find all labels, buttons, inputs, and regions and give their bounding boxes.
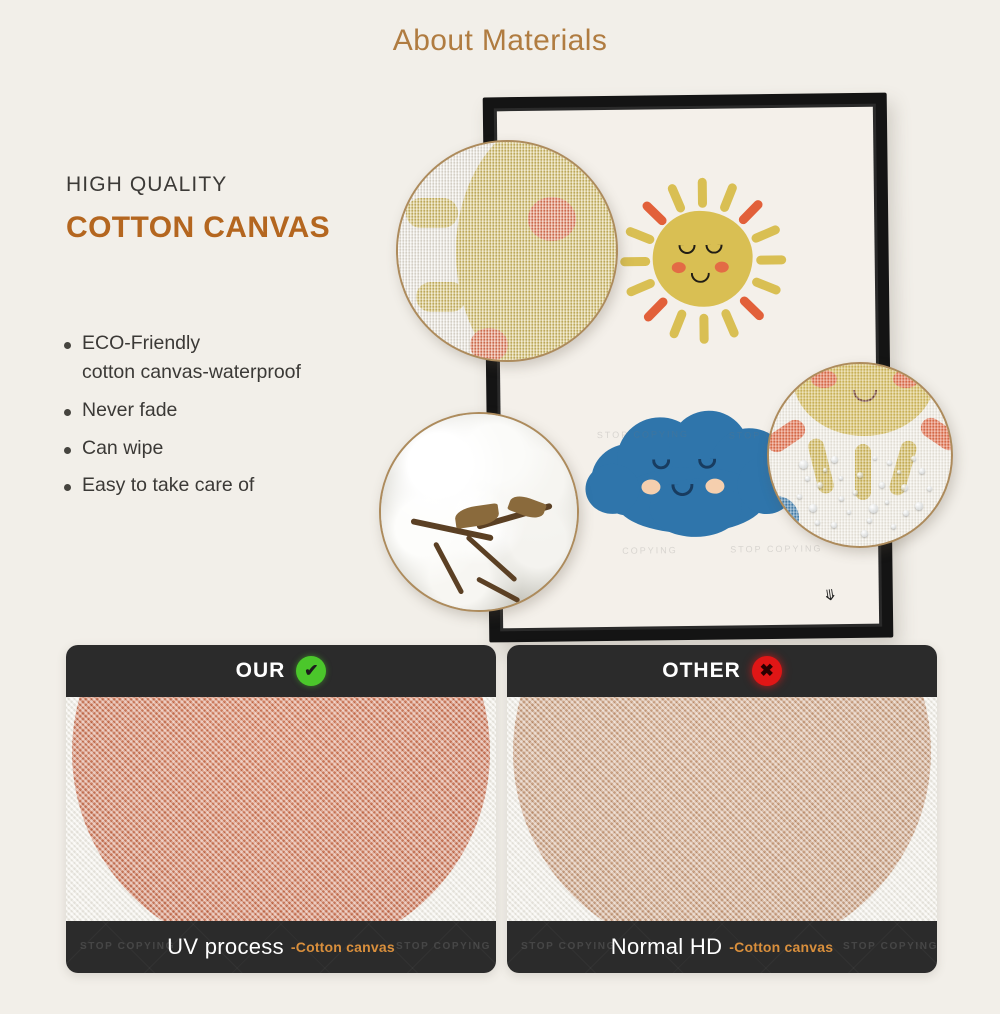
swatch-weave-texture bbox=[72, 697, 490, 921]
water-droplet bbox=[901, 484, 908, 491]
water-droplet bbox=[915, 502, 923, 510]
panel-header-our: OUR ✔ bbox=[66, 645, 496, 697]
water-droplet bbox=[815, 520, 820, 525]
list-item: ECO-Friendly cotton canvas-waterproof bbox=[62, 333, 412, 383]
weave-orange-dot bbox=[470, 328, 508, 362]
water-droplet bbox=[831, 456, 838, 463]
panel-footer-our: STOP COPYING STOP COPYING UV process -Co… bbox=[66, 921, 496, 973]
water-droplet bbox=[817, 482, 823, 488]
sun-ray bbox=[666, 183, 686, 214]
water-droplet bbox=[873, 456, 877, 460]
canvas-weave-texture bbox=[769, 364, 951, 546]
sun-ray bbox=[642, 296, 669, 324]
panel-footer-label: Normal HD bbox=[611, 934, 723, 960]
sun-ray bbox=[625, 278, 656, 298]
comparison-panel-other: OTHER ✖ STOP COPYING STOP COPYING Normal… bbox=[507, 645, 937, 973]
cloud-blob bbox=[649, 478, 742, 537]
sun-illustration bbox=[601, 160, 803, 362]
feature-line-1: Never fade bbox=[82, 399, 177, 421]
water-droplet bbox=[831, 522, 837, 528]
water-droplet bbox=[857, 472, 863, 478]
bullet-dot-icon bbox=[64, 484, 71, 491]
panel-header-label: OTHER bbox=[662, 659, 741, 683]
water-droplet bbox=[869, 504, 878, 513]
water-droplet bbox=[891, 524, 896, 529]
intro-text-block: HIGH QUALITY COTTON CANVAS bbox=[66, 172, 406, 246]
sun-ray bbox=[620, 257, 650, 266]
feature-line-2: cotton canvas-waterproof bbox=[82, 362, 412, 383]
water-droplet bbox=[927, 486, 932, 491]
sun-ray bbox=[737, 295, 765, 322]
swatch-weave-texture bbox=[513, 697, 931, 921]
sun-ray bbox=[750, 224, 781, 244]
bullet-dot-icon bbox=[64, 342, 71, 349]
sun-ray bbox=[750, 276, 781, 295]
check-icon: ✔ bbox=[296, 656, 326, 686]
watermark-text: STOP COPYING bbox=[396, 941, 491, 952]
cloud-illustration bbox=[585, 408, 797, 541]
watermark-text: STOP COPYING bbox=[843, 941, 937, 952]
water-droplet bbox=[897, 470, 901, 474]
weave-ray bbox=[406, 198, 458, 228]
water-droplet bbox=[911, 456, 916, 461]
comparison-panel-our: OUR ✔ STOP COPYING STOP COPYING UV proce… bbox=[66, 645, 496, 973]
water-droplet bbox=[797, 494, 802, 499]
intro-kicker: HIGH QUALITY bbox=[66, 172, 406, 197]
water-droplet bbox=[847, 510, 851, 514]
water-droplet bbox=[861, 530, 868, 537]
sun-body bbox=[652, 210, 753, 307]
list-item: Can wipe bbox=[62, 438, 412, 459]
water-droplet bbox=[887, 460, 892, 465]
watermark-text: COPYING bbox=[622, 545, 678, 556]
sun-ray bbox=[756, 255, 786, 264]
color-swatch-vivid bbox=[72, 697, 490, 921]
sun-ray bbox=[640, 200, 668, 227]
water-droplet bbox=[805, 476, 810, 481]
panel-header-label: OUR bbox=[236, 659, 286, 683]
panel-footer-sublabel: -Cotton canvas bbox=[291, 939, 395, 955]
intro-headline: COTTON CANVAS bbox=[66, 211, 406, 246]
weave-ray bbox=[416, 282, 466, 312]
feature-line-1: Easy to take care of bbox=[82, 474, 254, 496]
sun-ray bbox=[624, 226, 655, 245]
panel-footer-other: STOP COPYING STOP COPYING Normal HD -Cot… bbox=[507, 921, 937, 973]
water-droplet bbox=[809, 504, 817, 512]
water-droplet bbox=[853, 490, 858, 495]
sun-ray bbox=[719, 308, 739, 339]
detail-circle-canvas-weave bbox=[396, 140, 618, 362]
bullet-dot-icon bbox=[64, 447, 71, 454]
water-droplet bbox=[929, 512, 934, 517]
sun-ray bbox=[697, 178, 706, 208]
water-droplet bbox=[839, 496, 844, 501]
water-droplet bbox=[867, 518, 872, 523]
panel-header-other: OTHER ✖ bbox=[507, 645, 937, 697]
color-swatch-faded bbox=[513, 697, 931, 921]
page-title: About Materials bbox=[0, 24, 1000, 58]
water-droplet bbox=[823, 468, 827, 472]
feature-line-1: ECO-Friendly bbox=[82, 332, 200, 354]
water-droplet bbox=[839, 476, 843, 480]
bullet-dot-icon bbox=[64, 409, 71, 416]
watermark-text: STOP COPYING bbox=[521, 941, 616, 952]
detail-circle-waterproof bbox=[767, 362, 953, 548]
watermark-text: STOP COPYING bbox=[80, 941, 175, 952]
panel-footer-label: UV process bbox=[167, 934, 284, 960]
sun-ray bbox=[718, 182, 737, 213]
water-droplet bbox=[919, 468, 925, 474]
panel-swatch-our bbox=[66, 697, 496, 921]
cross-icon: ✖ bbox=[752, 656, 782, 686]
artist-signature-mark: ⤋ bbox=[823, 585, 838, 605]
feature-line-1: Can wipe bbox=[82, 437, 163, 459]
sun-ray bbox=[736, 198, 763, 226]
water-droplet bbox=[903, 510, 909, 516]
sun-rays bbox=[601, 160, 801, 162]
weave-orange-dot bbox=[528, 197, 576, 241]
water-droplet bbox=[799, 460, 808, 469]
feature-list: ECO-Friendly cotton canvas-waterproof Ne… bbox=[62, 333, 412, 513]
panel-swatch-other bbox=[507, 697, 937, 921]
water-droplet bbox=[885, 500, 889, 504]
panel-footer-sublabel: -Cotton canvas bbox=[729, 939, 833, 955]
sun-ray bbox=[668, 308, 687, 339]
list-item: Easy to take care of bbox=[62, 475, 412, 496]
water-droplet bbox=[879, 482, 885, 488]
list-item: Never fade bbox=[62, 400, 412, 421]
detail-circle-cotton-photo bbox=[379, 412, 579, 612]
sun-ray bbox=[699, 314, 708, 344]
